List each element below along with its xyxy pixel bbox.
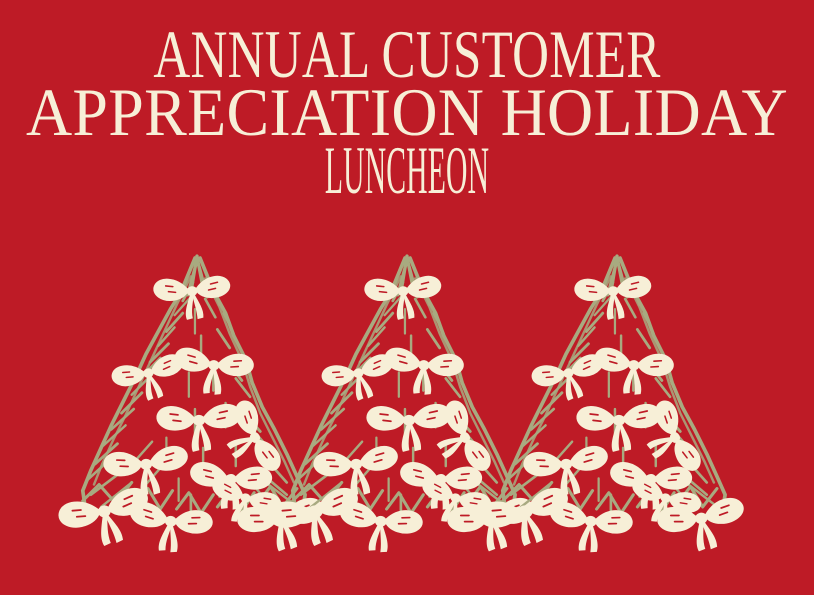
title-line-2: APPRECIATION HOLIDAY: [25, 78, 790, 136]
holiday-luncheon-poster: ANNUAL CUSTOMER APPRECIATION HOLIDAY LUN…: [0, 0, 814, 595]
tree-3: [477, 256, 749, 557]
tree-3-bows: [477, 275, 749, 557]
page-title: ANNUAL CUSTOMER APPRECIATION HOLIDAY LUN…: [0, 20, 814, 194]
title-line-3: LUNCHEON: [230, 136, 585, 194]
title-line-1: ANNUAL CUSTOMER: [102, 20, 713, 78]
